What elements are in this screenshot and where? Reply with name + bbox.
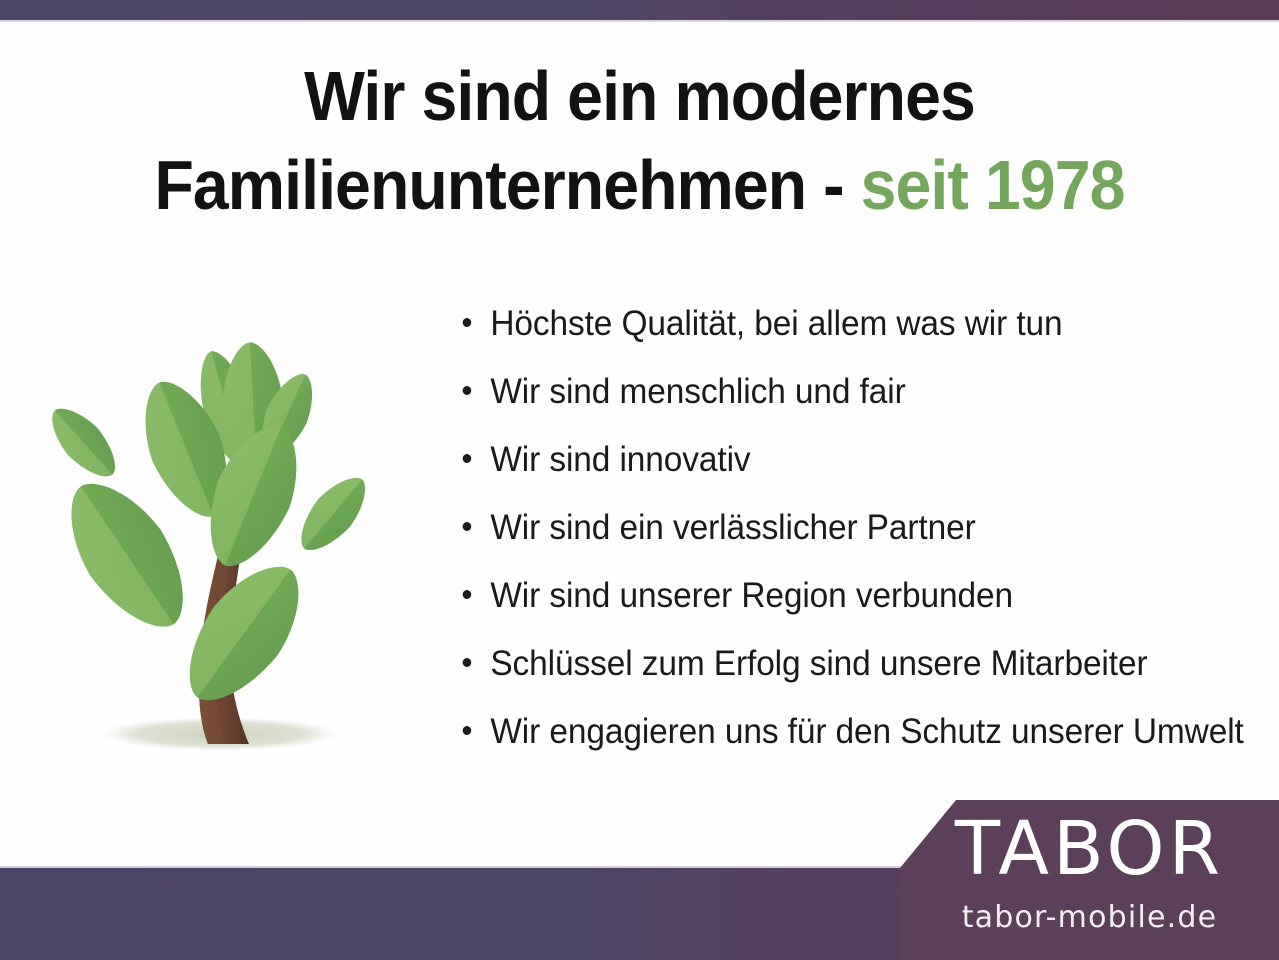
list-item: Schlüssel zum Erfolg sind unsere Mitarbe… bbox=[455, 640, 1238, 708]
list-item-label: Wir sind menschlich und fair bbox=[490, 372, 905, 411]
logo-wordmark: TABOR bbox=[900, 812, 1279, 886]
page-title: Wir sind ein modernes Familienunternehme… bbox=[51, 52, 1228, 230]
bullet-dot-icon bbox=[463, 454, 472, 463]
top-accent-bar bbox=[0, 0, 1279, 20]
page-title-accent: seit 1978 bbox=[861, 146, 1125, 224]
list-item-label: Wir sind unserer Region verbunden bbox=[490, 576, 1013, 615]
list-item: Wir sind ein verlässlicher Partner bbox=[455, 504, 1238, 572]
leaf-left-small bbox=[40, 397, 127, 488]
list-item: Wir sind innovativ bbox=[455, 436, 1238, 504]
list-item: Wir sind menschlich und fair bbox=[455, 368, 1238, 436]
tree-illustration bbox=[28, 334, 438, 760]
value-bullet-list: Höchste Qualität, bei allem was wir tun … bbox=[455, 300, 1275, 776]
list-item: Höchste Qualität, bei allem was wir tun bbox=[455, 300, 1238, 368]
list-item: Wir engagieren uns für den Schutz unsere… bbox=[455, 708, 1238, 776]
list-item: Wir sind unserer Region verbunden bbox=[455, 572, 1238, 640]
leaf-right-small bbox=[288, 466, 378, 562]
list-item-label: Wir sind ein verlässlicher Partner bbox=[490, 508, 975, 547]
bullet-dot-icon bbox=[463, 590, 472, 599]
bullet-dot-icon bbox=[463, 658, 472, 667]
list-item-label: Wir sind innovativ bbox=[490, 440, 750, 479]
list-item-label: Schlüssel zum Erfolg sind unsere Mitarbe… bbox=[490, 644, 1147, 683]
bullet-dot-icon bbox=[463, 318, 472, 327]
bullet-dot-icon bbox=[463, 726, 472, 735]
page-title-line-2: Familienunternehmen - seit 1978 bbox=[51, 141, 1228, 230]
page-title-line-1: Wir sind ein modernes bbox=[51, 52, 1228, 141]
leaf-lower-right bbox=[165, 546, 323, 721]
bullet-dot-icon bbox=[463, 522, 472, 531]
top-accent-bar-hairline bbox=[0, 20, 1279, 22]
slide-canvas: Wir sind ein modernes Familienunternehme… bbox=[0, 0, 1279, 960]
list-item-label: Höchste Qualität, bei allem was wir tun bbox=[490, 304, 1062, 343]
logo-url: tabor-mobile.de bbox=[900, 903, 1279, 933]
bullet-dot-icon bbox=[463, 386, 472, 395]
page-title-line-2-main: Familienunternehmen - bbox=[154, 146, 860, 224]
list-item-label: Wir engagieren uns für den Schutz unsere… bbox=[490, 712, 1243, 751]
